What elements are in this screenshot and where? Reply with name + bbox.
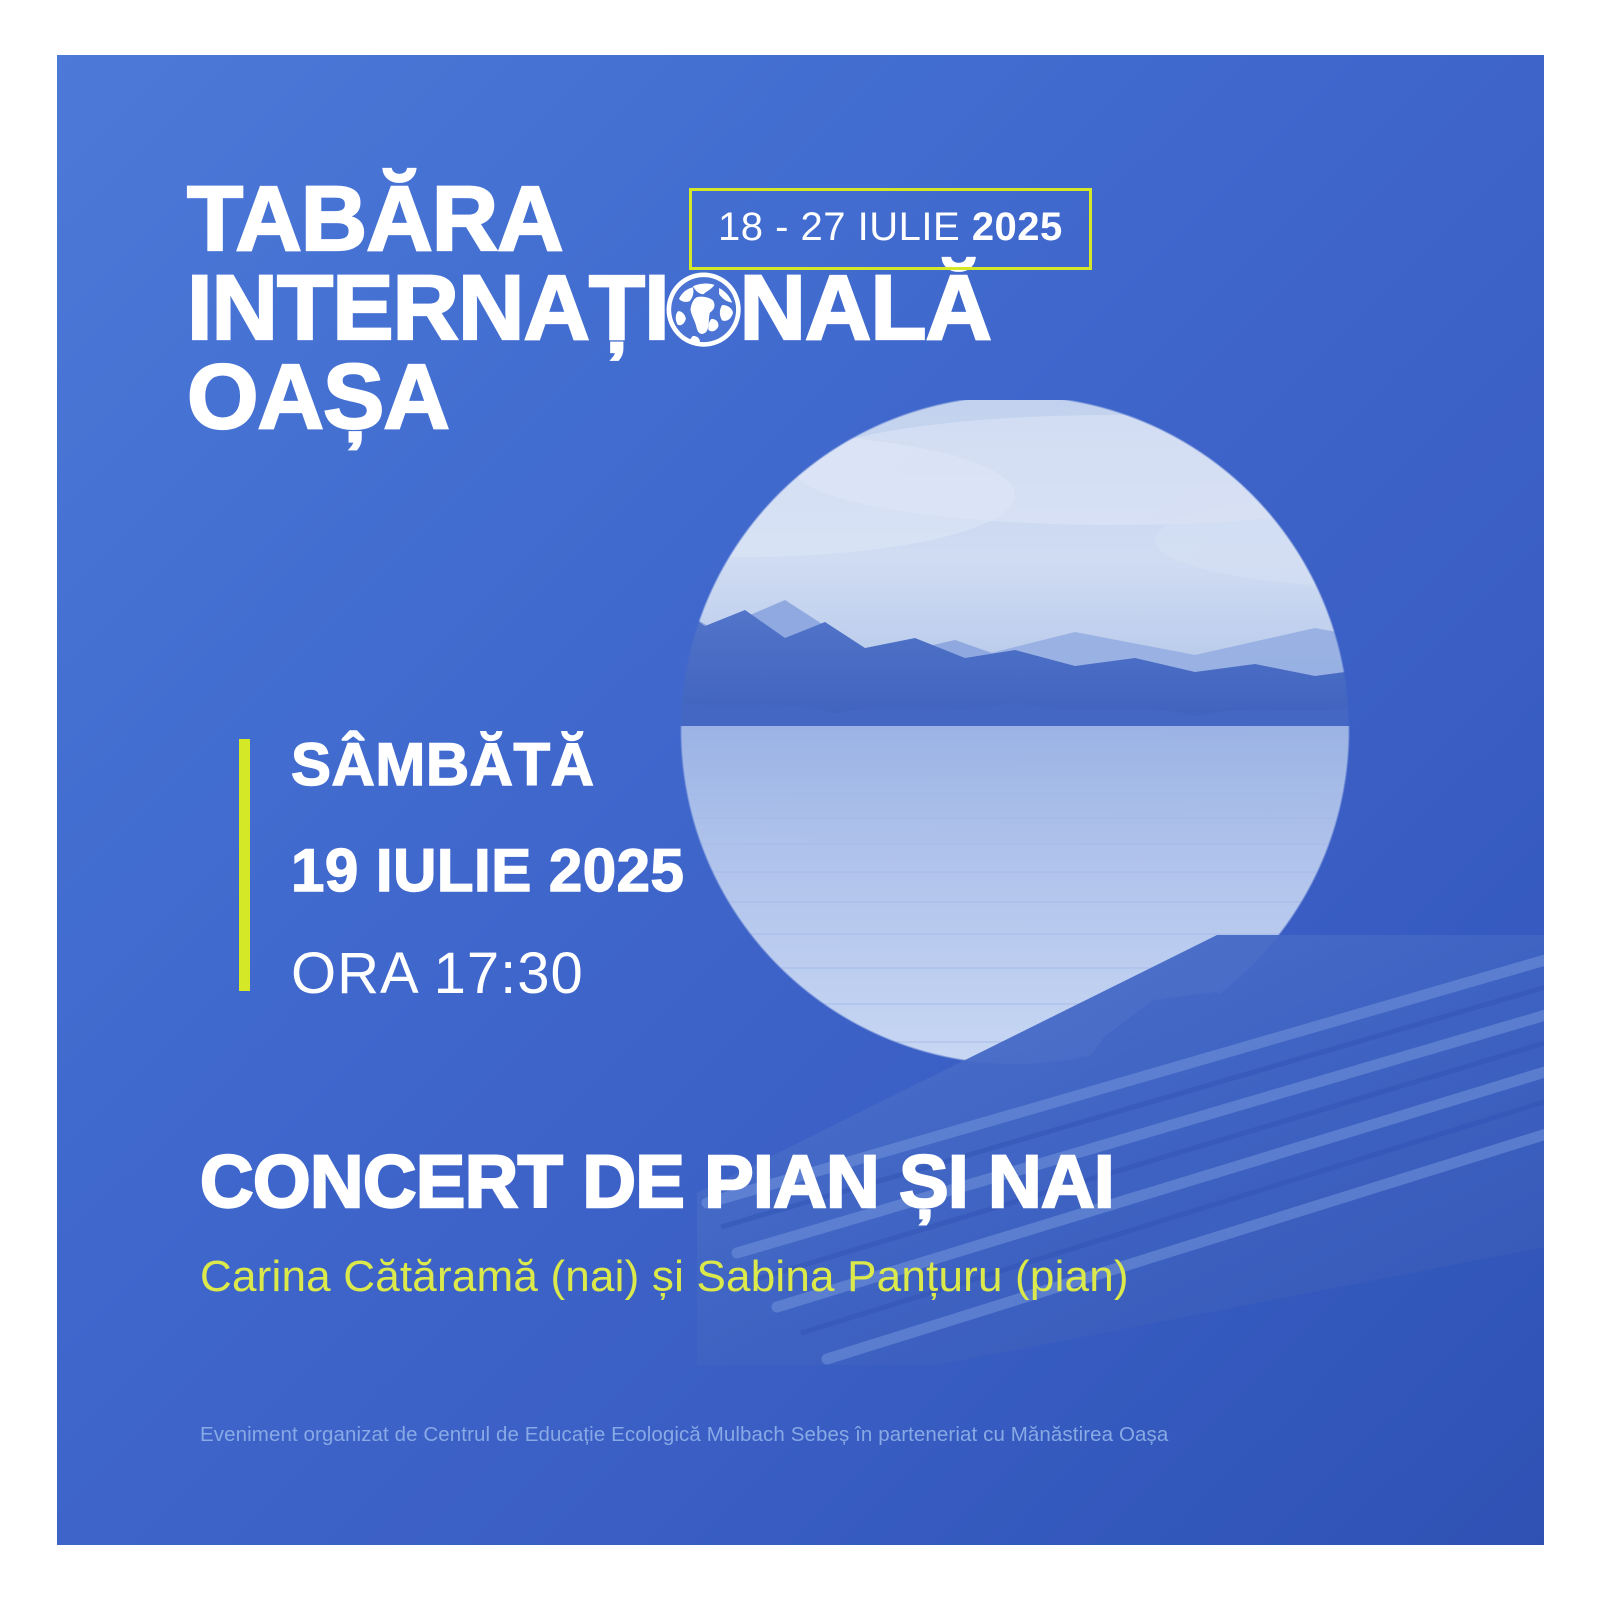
organizer-credit: Eveniment organizat de Centrul de Educaț… <box>200 1423 1450 1447</box>
date-range-badge: 18 - 27 IULIE 2025 <box>689 188 1092 270</box>
headline-line-3: OAȘA <box>187 353 1287 442</box>
event-time: ORA 17:30 <box>291 945 911 1003</box>
poster-panel: TABĂRA INTERNAȚI NALĂ OAȘA <box>57 55 1544 1545</box>
concert-performers: Carina Cătăramă (nai) și Sabina Panțuru … <box>200 1255 1460 1299</box>
globe-icon <box>665 271 742 348</box>
headline-line-2-suffix: NALĂ <box>739 257 991 359</box>
event-weekday: SÂMBĂTĂ <box>291 735 911 795</box>
headline-line-2-prefix: INTERNAȚI <box>187 257 669 359</box>
event-datetime-block: SÂMBĂTĂ 19 IULIE 2025 ORA 17:30 <box>239 735 911 1003</box>
concert-title: CONCERT DE PIAN ȘI NAI <box>200 1145 1460 1219</box>
poster-canvas: TABĂRA INTERNAȚI NALĂ OAȘA <box>0 0 1600 1600</box>
accent-bar <box>239 739 250 991</box>
headline-line-2: INTERNAȚI NALĂ <box>187 264 1287 353</box>
concert-block: CONCERT DE PIAN ȘI NAI Carina Cătăramă (… <box>200 1145 1460 1299</box>
date-range-year: 2025 <box>972 205 1063 249</box>
date-range-text: 18 - 27 IULIE <box>718 205 960 249</box>
event-date: 19 IULIE 2025 <box>291 841 911 901</box>
